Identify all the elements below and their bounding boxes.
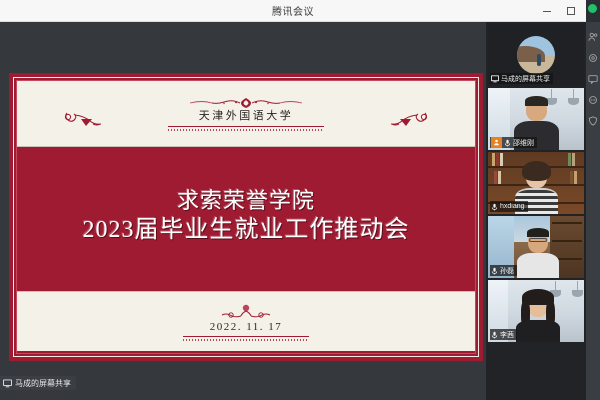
tencent-meeting-window: 腾讯会议 (0, 0, 600, 400)
screen-share-badge: 马成的屏幕共享 (0, 376, 76, 390)
shield-icon[interactable] (588, 116, 598, 126)
slide-footer-band: 2022. 11. 17 (17, 291, 475, 353)
maximize-icon (567, 7, 575, 15)
hand-raised-icon (491, 137, 502, 148)
footer-rule (183, 336, 309, 341)
footer-ornament-icon (191, 304, 301, 320)
tile-name-badge: 李茜 (490, 329, 517, 340)
tile-name-badge: 马成的屏幕共享 (490, 73, 553, 84)
microphone-muted-icon (491, 331, 498, 339)
participant-rail[interactable]: 马成的屏幕共享 (486, 22, 586, 400)
slide-frame-inner: 天津外国语大学 (16, 80, 476, 354)
slide-title: 求索荣誉学院 2023届毕业生就业工作推动会 (83, 187, 410, 246)
participant-name: 马成的屏幕共享 (501, 74, 550, 84)
microphone-muted-icon (491, 267, 498, 275)
participant-name: 邵维刚 (513, 138, 534, 148)
tile-name-badge: 孙磊 (490, 265, 517, 276)
slide-title-line2: 2023届毕业生就业工作推动会 (83, 215, 410, 246)
left-flourish-icon (63, 107, 105, 133)
footer-bottom-line (17, 351, 475, 353)
window-title: 腾讯会议 (272, 3, 314, 18)
recording-status-indicator (588, 4, 597, 13)
participant-tile[interactable]: 邵维刚 (488, 88, 584, 150)
slide-frame-outer: 天津外国语大学 (13, 77, 479, 357)
microphone-muted-icon (491, 203, 498, 211)
participant-tile[interactable]: 孙磊 (488, 216, 584, 278)
header-rule (168, 126, 324, 131)
participant-name: 李茜 (500, 330, 514, 340)
header-ornament-icon (166, 96, 326, 110)
presentation-slide: 天津外国语大学 (9, 73, 483, 361)
right-flourish-icon (387, 107, 429, 133)
window-controls (536, 0, 582, 22)
participant-tile[interactable]: hxdiang (488, 152, 584, 214)
slide-body: 求索荣誉学院 2023届毕业生就业工作推动会 (17, 147, 475, 291)
screen-share-icon (3, 379, 12, 388)
participant-name: hxdiang (500, 203, 525, 210)
settings-icon[interactable] (588, 53, 598, 63)
participant-name: 孙磊 (500, 266, 514, 276)
screen-share-icon (491, 75, 499, 83)
slide-date: 2022. 11. 17 (210, 321, 283, 333)
more-icon[interactable] (588, 95, 598, 105)
slide-title-line1: 求索荣誉学院 (83, 187, 410, 215)
university-name: 天津外国语大学 (199, 111, 294, 122)
tile-name-badge: 邵维刚 (490, 137, 537, 148)
maximize-button[interactable] (560, 1, 582, 21)
screen-share-label: 马成的屏幕共享 (15, 378, 71, 389)
minimize-button[interactable] (536, 1, 558, 21)
avatar (517, 36, 555, 74)
right-utility-toolbar[interactable] (586, 22, 600, 400)
title-bar: 腾讯会议 (0, 0, 586, 22)
participants-icon[interactable] (588, 32, 598, 42)
slide-header-band: 天津外国语大学 (17, 81, 475, 147)
chat-icon[interactable] (588, 74, 598, 84)
tile-name-badge: hxdiang (490, 201, 528, 212)
participant-tile[interactable]: 李茜 (488, 280, 584, 342)
participant-tile[interactable]: 马成的屏幕共享 (488, 24, 584, 86)
minimize-icon (543, 11, 551, 12)
microphone-muted-icon (504, 139, 511, 147)
